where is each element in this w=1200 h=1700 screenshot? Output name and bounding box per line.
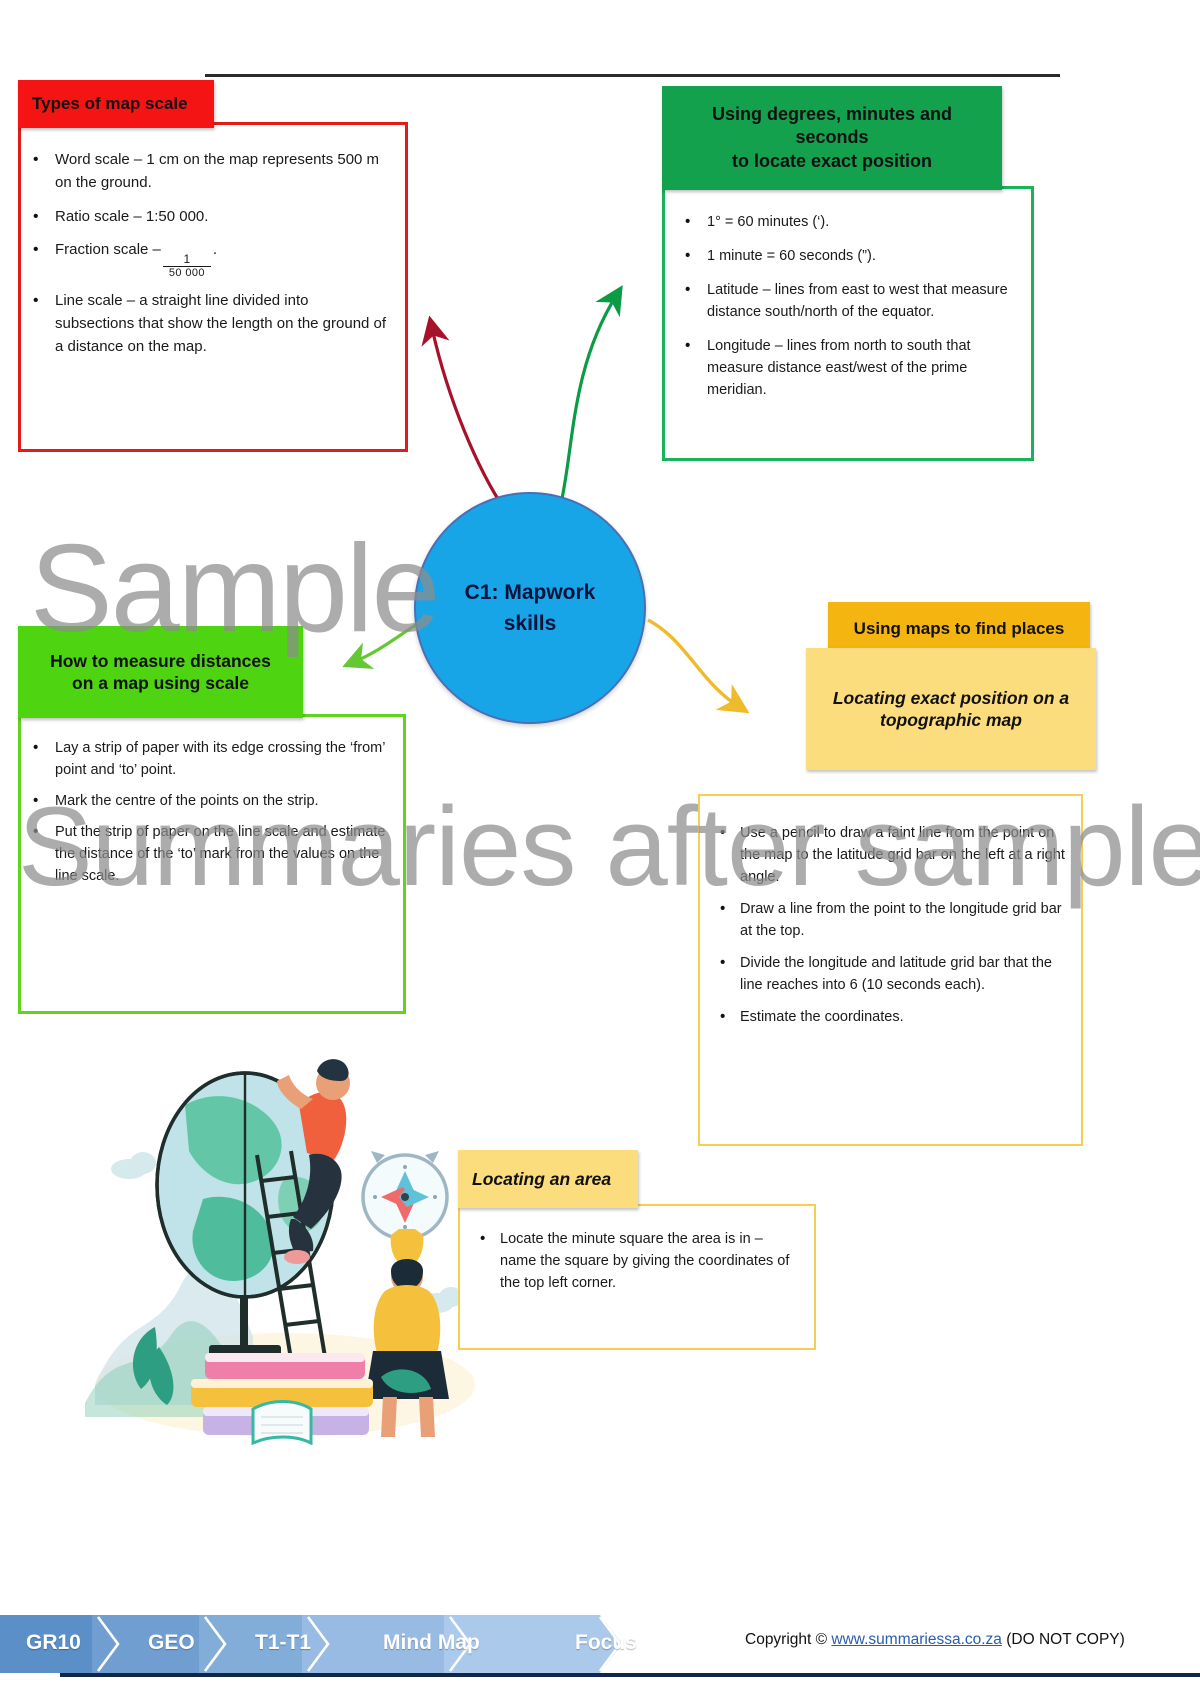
list-item: Latitude – lines from east to west that … xyxy=(673,279,1017,323)
list-item-fraction-scale: Fraction scale –150 000. xyxy=(25,239,391,279)
fraction-glyph: 150 000 xyxy=(163,253,211,280)
card-title-line2: on a map using scale xyxy=(72,672,249,694)
copyright-prefix: Copyright © xyxy=(745,1631,831,1648)
card-body-degrees-minutes-seconds: 1° = 60 minutes (‘). 1 minute = 60 secon… xyxy=(662,186,1034,461)
card-body-topographic-steps: Use a pencil to draw a faint line from t… xyxy=(698,794,1083,1146)
list-item: Locate the minute square the area is in … xyxy=(466,1228,800,1294)
bullet-list-locating-area: Locate the minute square the area is in … xyxy=(466,1228,800,1294)
footer-chevron-geo[interactable]: GEO xyxy=(148,1631,195,1655)
copyright-website-link[interactable]: www.summariessa.co.za xyxy=(831,1631,1002,1648)
card-title-locating-an-area: Locating an area xyxy=(458,1150,638,1208)
list-item: Draw a line from the point to the longit… xyxy=(706,898,1067,942)
list-item: Ratio scale – 1:50 000. xyxy=(25,206,391,229)
list-item: Estimate the coordinates. xyxy=(706,1006,1067,1028)
card-title-line1: Locating exact position on a xyxy=(833,687,1069,709)
card-locating-an-area: Locating an area Locate the minute squar… xyxy=(458,1150,816,1350)
list-item: Longitude – lines from north to south th… xyxy=(673,335,1017,401)
card-body-locating-an-area: Locate the minute square the area is in … xyxy=(458,1204,816,1350)
card-title-line1: Using degrees, minutes and seconds xyxy=(676,103,988,149)
card-title-locating-exact-position: Locating exact position on a topographic… xyxy=(806,648,1096,770)
list-item: 1 minute = 60 seconds (”). xyxy=(673,245,1017,267)
mind-map-page: Types of map scale Word scale – 1 cm on … xyxy=(0,0,1200,1700)
center-node-mapwork-skills: C1: Mapwork skills xyxy=(414,492,646,724)
header-rule xyxy=(205,74,1060,77)
list-item: Put the strip of paper on the line scale… xyxy=(25,821,391,887)
footer-chevron-focus[interactable]: Focus xyxy=(575,1631,637,1655)
bullet-list-topographic: Use a pencil to draw a faint line from t… xyxy=(706,822,1067,1028)
footer-bottom-rule xyxy=(60,1673,1200,1677)
card-title-line2: to locate exact position xyxy=(732,150,932,173)
card-locating-exact-position: Locating exact position on a topographic… xyxy=(806,648,1096,804)
fraction-suffix: . xyxy=(213,241,217,258)
card-title-line2: topographic map xyxy=(880,709,1022,731)
card-body-measure-distances: Lay a strip of paper with its edge cross… xyxy=(18,714,406,1014)
book-stack xyxy=(191,1353,373,1443)
card-types-of-map-scale: Types of map scale Word scale – 1 cm on … xyxy=(18,80,408,460)
list-item: Line scale – a straight line divided int… xyxy=(25,290,391,358)
card-degrees-minutes-seconds: Using degrees, minutes and seconds to lo… xyxy=(652,86,1034,478)
globe-explorer-illustration xyxy=(85,985,485,1445)
footer-chevron-gr10[interactable]: GR10 xyxy=(26,1631,81,1655)
card-title-types-of-map-scale: Types of map scale xyxy=(18,80,214,128)
bullet-list-measure: Lay a strip of paper with its edge cross… xyxy=(25,737,391,887)
footer-chevron-term[interactable]: T1-T1 xyxy=(255,1631,311,1655)
fraction-numerator: 1 xyxy=(184,253,191,266)
copyright-notice: Copyright © www.summariessa.co.za (DO NO… xyxy=(745,1631,1125,1649)
card-body-types-of-map-scale: Word scale – 1 cm on the map represents … xyxy=(18,122,408,452)
bullet-list-map-scale: Word scale – 1 cm on the map represents … xyxy=(25,149,391,359)
fraction-denominator: 50 000 xyxy=(169,267,205,279)
center-node-line2: skills xyxy=(504,608,557,640)
card-topographic-steps: Use a pencil to draw a faint line from t… xyxy=(698,794,1083,1146)
list-item: Lay a strip of paper with its edge cross… xyxy=(25,737,391,781)
card-measure-distances: How to measure distances on a map using … xyxy=(18,626,406,990)
list-item: Use a pencil to draw a faint line from t… xyxy=(706,822,1067,888)
list-item: Mark the centre of the points on the str… xyxy=(25,790,391,812)
list-item: Word scale – 1 cm on the map represents … xyxy=(25,149,391,195)
card-title-degrees-minutes-seconds: Using degrees, minutes and seconds to lo… xyxy=(662,86,1002,190)
fraction-label: Fraction scale – xyxy=(55,241,161,258)
copyright-suffix: (DO NOT COPY) xyxy=(1002,1631,1125,1648)
card-title-measure-distances: How to measure distances on a map using … xyxy=(18,626,303,718)
center-node-line1: C1: Mapwork xyxy=(465,577,596,609)
footer-chevron-mind-map[interactable]: Mind Map xyxy=(383,1631,480,1655)
list-item: 1° = 60 minutes (‘). xyxy=(673,211,1017,233)
footer-bar: GR10 GEO T1-T1 Mind Map Focus Copyright … xyxy=(0,1615,1200,1675)
bullet-list-dms: 1° = 60 minutes (‘). 1 minute = 60 secon… xyxy=(673,211,1017,401)
list-item: Divide the longitude and latitude grid b… xyxy=(706,952,1067,996)
card-title-line1: How to measure distances xyxy=(50,650,271,672)
